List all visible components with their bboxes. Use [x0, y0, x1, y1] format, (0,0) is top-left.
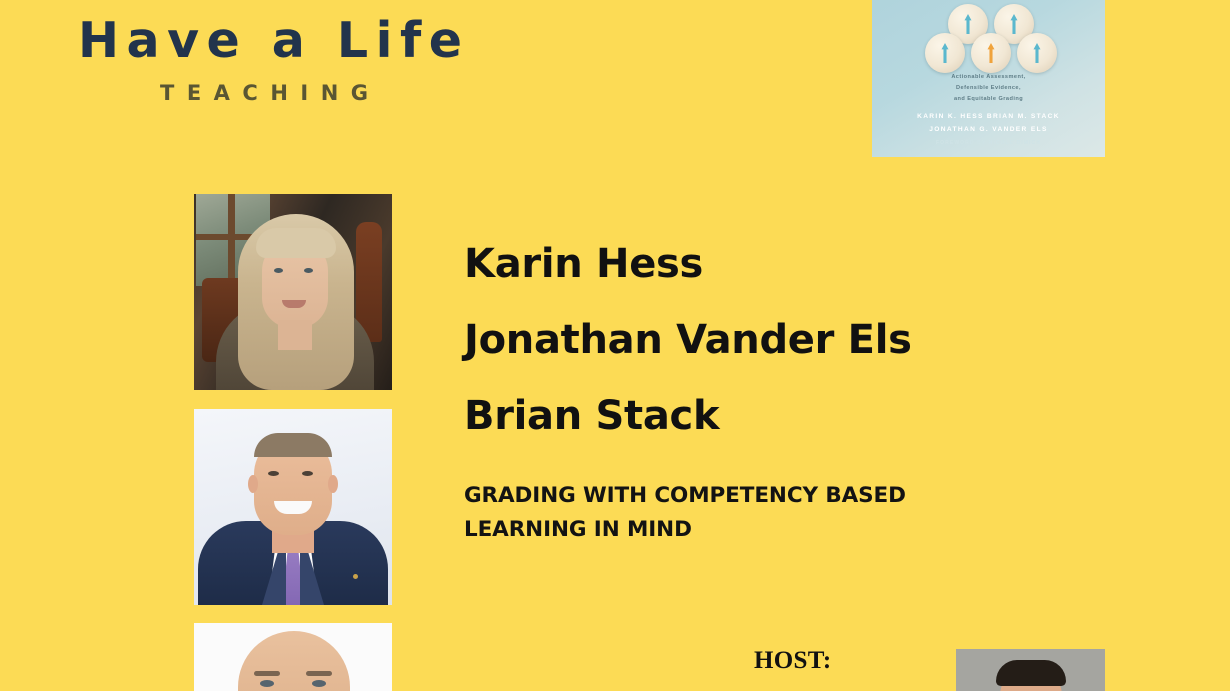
- photo-hair: [256, 228, 336, 258]
- presentation-slide: Have a Life TEACHING Actionable Assessme…: [0, 0, 1230, 691]
- disc-accent-icon: [971, 33, 1011, 73]
- cover-authors-line-1: KARIN K. HESS BRIAN M. STACK: [872, 110, 1105, 123]
- session-title: GRADING WITH COMPETENCY BASED LEARNING I…: [464, 479, 1009, 548]
- photo-lapel-pin: [353, 574, 358, 579]
- host-label: HOST:: [754, 647, 831, 675]
- photo-eye: [274, 268, 283, 273]
- speaker-name-list: Karin Hess Jonathan Vander Els Brian Sta…: [464, 244, 1024, 436]
- photo-neck: [278, 320, 312, 350]
- photo-eye: [304, 268, 313, 273]
- photo-eye: [268, 471, 279, 476]
- speaker-photo-jonathan-vander-els: [194, 623, 392, 691]
- photo-eyebrow: [254, 671, 280, 676]
- photo-hair: [996, 660, 1066, 686]
- photo-ear: [248, 475, 258, 493]
- speaker-name: Karin Hess: [464, 244, 1024, 284]
- cover-subtitle: Actionable Assessment, Defensible Eviden…: [872, 72, 1105, 105]
- photo-eye: [260, 680, 274, 687]
- speaker-photo-brian-stack: [194, 409, 392, 605]
- photo-eye: [312, 680, 326, 687]
- cover-authors: KARIN K. HESS BRIAN M. STACK JONATHAN G.…: [872, 110, 1105, 136]
- book-cover-image: Actionable Assessment, Defensible Eviden…: [872, 0, 1105, 157]
- cover-authors-line-2: JONATHAN G. VANDER ELS: [872, 123, 1105, 136]
- brand-subtitle: TEACHING: [160, 81, 538, 105]
- photo-eyebrow: [306, 671, 332, 676]
- cover-foreword: FOREWORD BY NICOLE DIMICH: [872, 140, 1105, 146]
- speaker-photo-karin-hess: [194, 194, 392, 390]
- brand-logo: Have a Life TEACHING: [78, 14, 538, 105]
- photo-hair: [254, 433, 332, 457]
- brand-title: Have a Life: [78, 14, 538, 69]
- disc-icon: [1017, 33, 1057, 73]
- photo-window-frame: [228, 194, 235, 286]
- cover-disc-graphic: [872, 2, 1105, 70]
- photo-eye: [302, 471, 313, 476]
- photo-ear: [328, 475, 338, 493]
- speaker-name: Jonathan Vander Els: [464, 320, 1024, 360]
- host-photo: [956, 649, 1105, 691]
- disc-icon: [925, 33, 965, 73]
- speaker-name: Brian Stack: [464, 396, 1024, 436]
